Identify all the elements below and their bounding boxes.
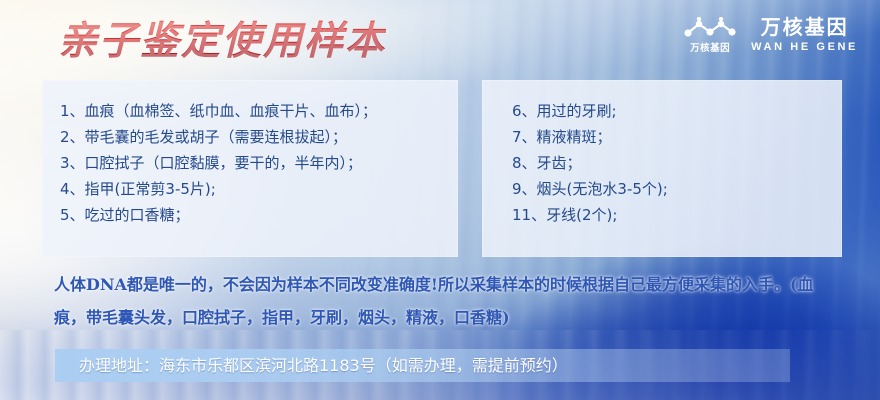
list-item: 4、指甲(正常剪3-5片);	[60, 176, 458, 202]
list-item: 5、吃过的口香糖；	[60, 202, 458, 228]
list-item: 11、牙线(2个);	[512, 202, 842, 228]
logo-mark-label: 万核基因	[690, 43, 730, 54]
sample-panel-left: 1、血痕（血棉签、纸巾血、血痕干片、血布）； 2、带毛囊的毛发或胡子（需要连根拔…	[42, 80, 458, 257]
logo-name-cn: 万核基因	[761, 16, 849, 40]
list-item: 1、血痕（血棉签、纸巾血、血痕干片、血布）；	[60, 98, 458, 124]
list-item: 7、精液精斑；	[512, 124, 842, 150]
logo-name-en: WAN HE GENE	[751, 40, 858, 54]
poster-canvas: 亲子鉴定使用样本	[0, 0, 880, 400]
dna-note-paragraph: 人体DNA都是唯一的，不会因为样本不同改变准确度!所以采集样本的时候根据自己最方…	[54, 268, 844, 334]
molecule-icon	[682, 17, 738, 41]
list-item: 9、烟头(无泡水3-5个);	[512, 176, 842, 202]
list-item: 3、口腔拭子（口腔黏膜，要干的，半年内）；	[60, 150, 458, 176]
address-bar: 办理地址：海东市乐都区滨河北路1183号（如需办理，需提前预约）	[55, 349, 790, 382]
logo-wordmark: 万核基因 WAN HE GENE	[751, 16, 858, 54]
list-item: 6、用过的牙刷;	[512, 98, 842, 124]
address-text: 办理地址：海东市乐都区滨河北路1183号（如需办理，需提前预约）	[79, 356, 568, 376]
list-item: 8、牙齿；	[512, 150, 842, 176]
logo-mark: 万核基因	[682, 17, 738, 54]
page-title: 亲子鉴定使用样本	[58, 18, 386, 66]
sample-list-panels: 1、血痕（血棉签、纸巾血、血痕干片、血布）； 2、带毛囊的毛发或胡子（需要连根拔…	[42, 80, 842, 257]
list-item: 2、带毛囊的毛发或胡子（需要连根拔起）；	[60, 124, 458, 150]
brand-logo: 万核基因 万核基因 WAN HE GENE	[682, 16, 858, 54]
sample-panel-right: 6、用过的牙刷; 7、精液精斑； 8、牙齿； 9、烟头(无泡水3-5个); 11…	[482, 80, 842, 257]
